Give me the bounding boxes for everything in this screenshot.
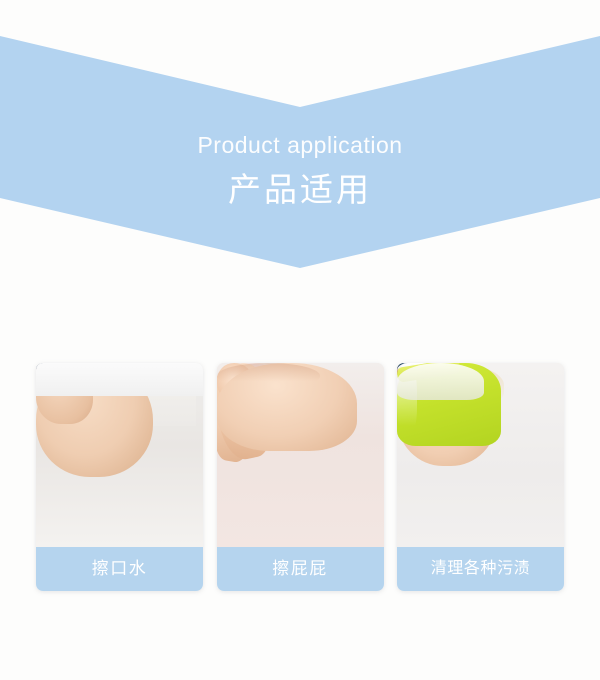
application-card-1[interactable]: 擦口水 <box>36 363 203 591</box>
baby-feeding-photo <box>397 363 564 547</box>
banner-chevron <box>0 0 600 280</box>
baby-drool-photo <box>36 363 203 547</box>
application-card-2-caption: 擦屁屁 <box>217 547 384 591</box>
application-card-2[interactable]: 擦屁屁 <box>217 363 384 591</box>
application-card-list: 擦口水 擦屁屁 <box>36 363 564 591</box>
baby-bottom-photo <box>217 363 384 547</box>
application-card-1-caption: 擦口水 <box>36 547 203 591</box>
chevron-shape <box>0 36 600 268</box>
product-application-section: Product application 产品适用 擦口水 <box>0 0 600 680</box>
application-card-3[interactable]: 清理各种污渍 <box>397 363 564 591</box>
application-card-3-caption: 清理各种污渍 <box>397 547 564 591</box>
